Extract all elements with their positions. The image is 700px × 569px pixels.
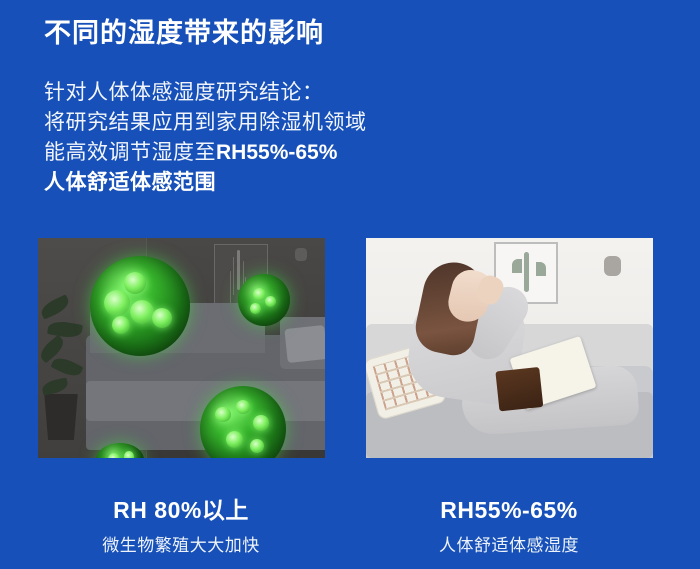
caption-right-title: RH55%-65% [364,496,654,525]
body-line-3-prefix: 能高效调节湿度至 [44,141,216,164]
plant-pot [42,394,80,440]
caption-left-subtitle: 微生物繁殖大大加快 [36,531,326,556]
cactus-icon [524,252,529,291]
body-line-4: 人体舒适体感范围 [44,168,367,198]
dark-room-scene [38,238,325,458]
sofa-cushion [284,325,325,363]
slide-root: 不同的湿度带来的影响 针对人体体感湿度研究结论： 将研究结果应用到家用除湿机领域… [0,0,700,569]
body-line-2: 将研究结果应用到家用除湿机领域 [44,108,367,138]
body-line-1: 针对人体体感湿度研究结论： [44,78,367,108]
wall-speaker-icon [604,256,621,276]
caption-right: RH55%-65% 人体舒适体感湿度 [364,496,654,556]
humidity-range-value: RH55%-65% [216,141,337,164]
page-title: 不同的湿度带来的影响 [44,17,324,49]
wall-knob-icon [295,248,307,261]
bright-room-scene [366,238,653,458]
microbe-cluster-small [238,274,290,326]
body-text-block: 针对人体体感湿度研究结论： 将研究结果应用到家用除湿机领域 能高效调节湿度至RH… [44,78,367,198]
caption-left: RH 80%以上 微生物繁殖大大加快 [36,496,326,556]
photo-left-microbes [38,238,325,458]
caption-right-subtitle: 人体舒适体感湿度 [364,531,654,556]
caption-left-title: RH 80%以上 [36,496,326,525]
photo-right-comfort [366,238,653,458]
microbe-cluster-large [90,256,190,356]
body-line-3: 能高效调节湿度至RH55%-65% [44,138,367,168]
